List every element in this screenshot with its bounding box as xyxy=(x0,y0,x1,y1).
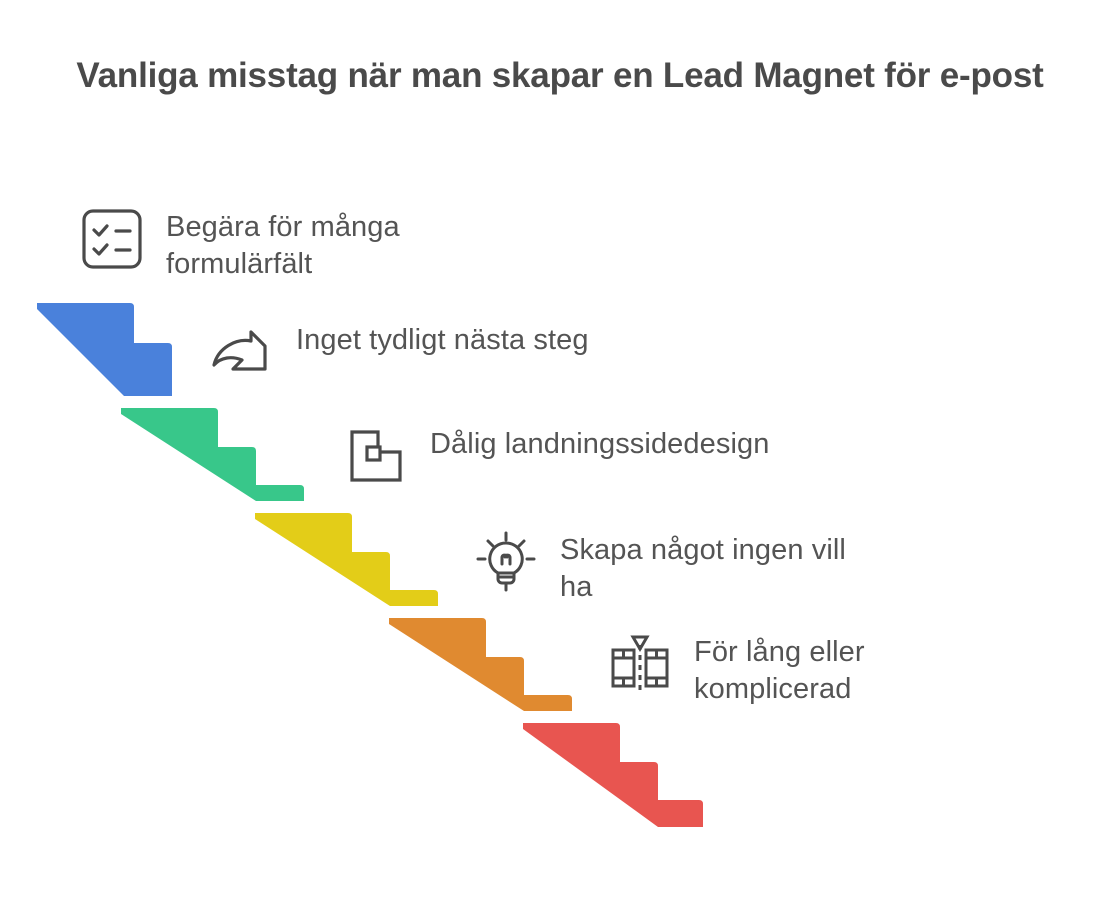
list-item-label: Dålig landningssidedesign xyxy=(430,422,769,463)
list-item-label: Skapa något ingen vill ha xyxy=(560,528,880,606)
list-item-label: För lång eller komplicerad xyxy=(694,630,954,708)
split-clip-icon xyxy=(606,630,674,698)
page-title: Vanliga misstag när man skapar en Lead M… xyxy=(0,52,1120,99)
list-item: För lång eller komplicerad xyxy=(606,630,954,708)
list-item: Dålig landningssidedesign xyxy=(342,422,769,490)
stair-block-3-shape xyxy=(255,513,438,606)
stair-block-1-shape xyxy=(37,303,172,396)
curved-arrow-icon xyxy=(208,318,276,386)
list-item: Skapa något ingen vill ha xyxy=(472,528,880,606)
list-item: Inget tydligt nästa steg xyxy=(208,318,589,386)
list-item-label: Begära för många formulärfält xyxy=(166,205,496,283)
list-item: Begära för många formulärfält xyxy=(78,205,496,283)
checklist-icon xyxy=(78,205,146,273)
stair-block-5-shape xyxy=(523,723,703,827)
stair-block-2-shape xyxy=(121,408,304,501)
stair-block-4-shape xyxy=(389,618,572,711)
lightbulb-icon xyxy=(472,528,540,596)
list-item-label: Inget tydligt nästa steg xyxy=(296,318,589,359)
layout-resize-icon xyxy=(342,422,410,490)
